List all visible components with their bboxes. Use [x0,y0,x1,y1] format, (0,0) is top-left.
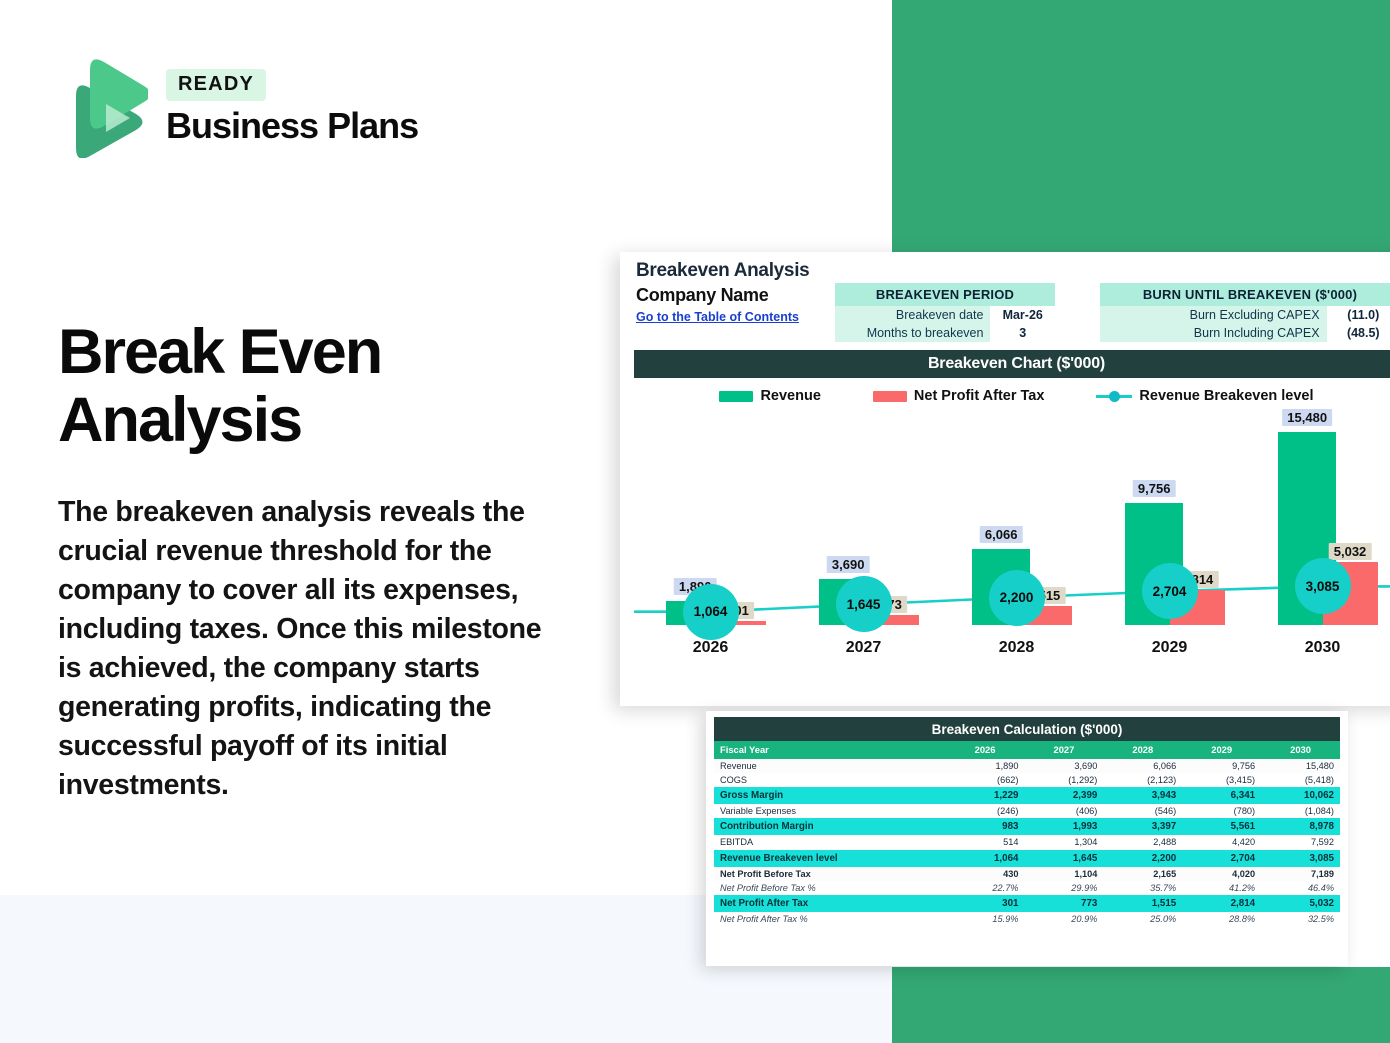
background-panel-bottom-right [892,967,1390,1043]
table-row-label: EBITDA [714,835,946,849]
table-row-label: Revenue Breakeven level [714,850,946,867]
table-cell: 1,515 [1103,895,1182,912]
table-row: Gross Margin1,2292,3993,9436,34110,062 [714,787,1340,804]
chart-category-2030: 15,4805,0323,0852030 [1246,417,1390,657]
table-cell: 6,341 [1182,787,1261,804]
data-label-net-profit-after-tax: 5,032 [1329,543,1372,560]
kpi-row-value: (48.5) [1327,324,1390,342]
table-cell: 2,165 [1103,867,1182,881]
table-column-header: Fiscal Year [714,741,946,759]
brand-badge: READY [166,69,266,101]
axis-tick-label: 2028 [940,639,1093,657]
table-row-label: Revenue [714,759,946,773]
chart-plot-area: 1,8903011,06420263,6907731,64520276,0661… [634,417,1390,657]
table-body: Revenue1,8903,6906,0669,75615,480COGS(66… [714,759,1340,926]
breakeven-calculation-card: Breakeven Calculation ($'000) Fiscal Yea… [706,711,1348,966]
chart-category-2028: 6,0661,5152,2002028 [940,417,1093,657]
table-cell: 4,020 [1182,867,1261,881]
legend-label: Net Profit After Tax [914,388,1045,404]
legend-label: Revenue Breakeven level [1139,388,1313,404]
legend-item-revenue: Revenue [719,388,820,404]
table-cell: 773 [1024,895,1103,912]
sheet-title: Breakeven Analysis [636,260,809,282]
kpi-row-label: Burn Excluding CAPEX [1100,306,1327,324]
table-cell: 41.2% [1182,881,1261,895]
bar-group: 1,8903011,064 [634,425,787,625]
table-cell: (1,292) [1024,773,1103,787]
marker-revenue-breakeven-level[interactable]: 3,085 [1295,558,1351,614]
table-row: Revenue1,8903,6906,0669,75615,480 [714,759,1340,773]
table-cell: 2,488 [1103,835,1182,849]
legend-item-revenue-breakeven-level: Revenue Breakeven level [1096,388,1313,404]
table-cell: 1,993 [1024,818,1103,835]
table-column-header: 2026 [946,741,1025,759]
kpi-row-value: (11.0) [1327,306,1390,324]
table-row-label: Net Profit Before Tax [714,867,946,881]
brand-name: Business Plans [166,105,418,147]
table-row-label: Net Profit After Tax % [714,912,946,926]
bar-group: 15,4805,0323,085 [1246,425,1390,625]
bar-group: 3,6907731,645 [787,425,940,625]
table-cell: 15,480 [1261,759,1340,773]
table-cell: (246) [946,804,1025,818]
table-cell: (3,415) [1182,773,1261,787]
table-row-label: COGS [714,773,946,787]
table-cell: 25.0% [1103,912,1182,926]
table-row: Contribution Margin9831,9933,3975,5618,9… [714,818,1340,835]
table-cell: 6,066 [1103,759,1182,773]
table-row: Net Profit Before Tax %22.7%29.9%35.7%41… [714,881,1340,895]
table-cell: 46.4% [1261,881,1340,895]
table-of-contents-link[interactable]: Go to the Table of Contents [636,310,799,324]
table-cell: 1,104 [1024,867,1103,881]
table-cell: (2,123) [1103,773,1182,787]
axis-tick-label: 2027 [787,639,940,657]
table-cell: 5,032 [1261,895,1340,912]
table-cell: 28.8% [1182,912,1261,926]
table-title: Breakeven Calculation ($'000) [714,717,1340,741]
table-cell: 32.5% [1261,912,1340,926]
table-cell: 3,690 [1024,759,1103,773]
table-cell: (406) [1024,804,1103,818]
marker-revenue-breakeven-level[interactable]: 2,200 [989,570,1045,626]
kpi-row-label: Burn Including CAPEX [1100,324,1327,342]
legend-swatch-icon [873,391,907,402]
page-title: Break Even Analysis [58,318,578,454]
chart-category-2029: 9,7562,8142,7042029 [1093,417,1246,657]
breakeven-calculation-table: Fiscal Year20262027202820292030 Revenue1… [714,741,1340,926]
table-column-header: 2029 [1182,741,1261,759]
brand-logo: READY Business Plans [60,58,418,158]
table-cell: 4,420 [1182,835,1261,849]
table-row-label: Net Profit After Tax [714,895,946,912]
sheet-subtitle: Company Name [636,285,768,306]
table-row: Variable Expenses(246)(406)(546)(780)(1,… [714,804,1340,818]
axis-tick-label: 2029 [1093,639,1246,657]
table-cell: (1,084) [1261,804,1340,818]
table-cell: 2,704 [1182,850,1261,867]
table-cell: 10,062 [1261,787,1340,804]
table-column-header: 2028 [1103,741,1182,759]
kpi-burn-until-breakeven: BURN UNTIL BREAKEVEN ($'000) Burn Exclud… [1100,283,1390,342]
table-row: Net Profit Before Tax4301,1042,1654,0207… [714,867,1340,881]
kpi-period-header: BREAKEVEN PERIOD [835,283,1055,306]
chart-category-2026: 1,8903011,0642026 [634,417,787,657]
table-cell: 2,399 [1024,787,1103,804]
axis-tick-label: 2030 [1246,639,1390,657]
marker-revenue-breakeven-level[interactable]: 1,645 [836,576,892,632]
table-cell: 983 [946,818,1025,835]
table-cell: 7,592 [1261,835,1340,849]
bar-group: 9,7562,8142,704 [1093,425,1246,625]
kpi-breakeven-period: BREAKEVEN PERIOD Breakeven date Mar-26 M… [835,283,1055,342]
kpi-burn-header: BURN UNTIL BREAKEVEN ($'000) [1100,283,1390,306]
table-cell: 1,064 [946,850,1025,867]
marker-revenue-breakeven-level[interactable]: 1,064 [683,584,739,640]
legend-label: Revenue [760,388,820,404]
kpi-row-value: Mar-26 [990,306,1055,324]
table-cell: 5,561 [1182,818,1261,835]
data-label-revenue: 6,066 [980,526,1023,543]
table-cell: 35.7% [1103,881,1182,895]
marker-revenue-breakeven-level[interactable]: 2,704 [1142,563,1198,619]
breakeven-chart-card: Breakeven Analysis Company Name Go to th… [620,252,1390,706]
table-cell: 1,304 [1024,835,1103,849]
table-cell: (546) [1103,804,1182,818]
table-cell: 15.9% [946,912,1025,926]
table-cell: 1,890 [946,759,1025,773]
table-cell: (662) [946,773,1025,787]
table-row: COGS(662)(1,292)(2,123)(3,415)(5,418) [714,773,1340,787]
table-row: Net Profit After Tax3017731,5152,8145,03… [714,895,1340,912]
table-row-label: Variable Expenses [714,804,946,818]
table-cell: 22.7% [946,881,1025,895]
table-cell: 1,645 [1024,850,1103,867]
table-cell: 430 [946,867,1025,881]
table-cell: 20.9% [1024,912,1103,926]
table-row-label: Net Profit Before Tax % [714,881,946,895]
table-cell: 2,200 [1103,850,1182,867]
legend-line-marker-icon [1096,390,1132,402]
table-row: EBITDA5141,3042,4884,4207,592 [714,835,1340,849]
table-cell: 301 [946,895,1025,912]
kpi-row-label: Months to breakeven [835,324,990,342]
kpi-row-value: 3 [990,324,1055,342]
axis-tick-label: 2026 [634,639,787,657]
background-panel-top-right [892,0,1390,259]
table-cell: 2,814 [1182,895,1261,912]
data-label-revenue: 15,480 [1282,409,1332,426]
table-cell: 3,085 [1261,850,1340,867]
legend-swatch-icon [719,391,753,402]
legend-item-net-profit-after-tax: Net Profit After Tax [873,388,1045,404]
table-cell: 514 [946,835,1025,849]
page-description: The breakeven analysis reveals the cruci… [58,493,558,805]
table-row: Revenue Breakeven level1,0641,6452,2002,… [714,850,1340,867]
table-cell: (780) [1182,804,1261,818]
table-row-label: Gross Margin [714,787,946,804]
table-row-label: Contribution Margin [714,818,946,835]
bar-group: 6,0661,5152,200 [940,425,1093,625]
table-cell: 9,756 [1182,759,1261,773]
data-label-revenue: 9,756 [1133,480,1176,497]
table-column-header: 2030 [1261,741,1340,759]
chart-title: Breakeven Chart ($'000) [634,350,1390,378]
table-header-row: Fiscal Year20262027202820292030 [714,741,1340,759]
table-cell: (5,418) [1261,773,1340,787]
data-label-revenue: 3,690 [827,556,870,573]
table-cell: 7,189 [1261,867,1340,881]
table-cell: 1,229 [946,787,1025,804]
table-cell: 3,397 [1103,818,1182,835]
table-cell: 8,978 [1261,818,1340,835]
chart-category-2027: 3,6907731,6452027 [787,417,940,657]
table-cell: 3,943 [1103,787,1182,804]
chart-legend: Revenue Net Profit After Tax Revenue Bre… [634,383,1390,409]
table-row: Net Profit After Tax %15.9%20.9%25.0%28.… [714,912,1340,926]
table-cell: 29.9% [1024,881,1103,895]
sheet-header: Breakeven Analysis Company Name Go to th… [620,252,1390,347]
kpi-row-label: Breakeven date [835,306,990,324]
play-triangle-logo-icon [60,58,148,158]
table-column-header: 2027 [1024,741,1103,759]
